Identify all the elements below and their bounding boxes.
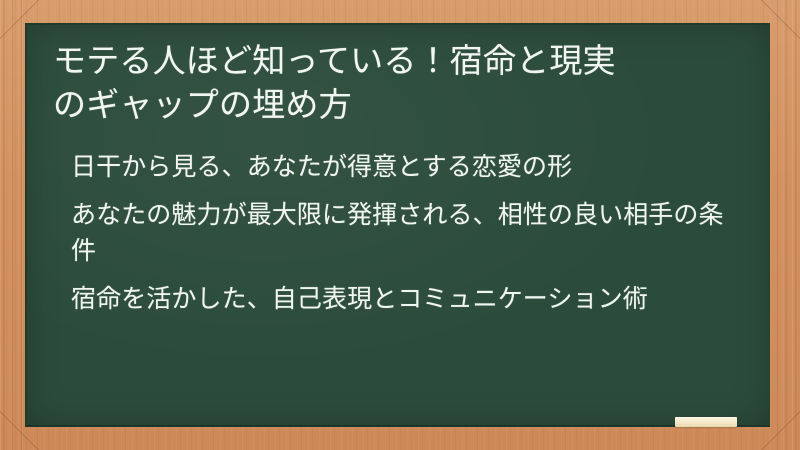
list-item: あなたの魅力が最大限に発揮される、相性の良い相手の条件 — [71, 197, 733, 268]
chalkboard-surface: モテる人ほど知っている！宿命と現実 のギャップの埋め方 日干から見る、あなたが得… — [25, 23, 770, 427]
list-item: 日干から見る、あなたが得意とする恋愛の形 — [71, 149, 733, 185]
list-item: 宿命を活かした、自己表現とコミュニケーション術 — [71, 281, 733, 317]
chalkboard-slide: モテる人ほど知っている！宿命と現実 のギャップの埋め方 日干から見る、あなたが得… — [0, 0, 800, 450]
chalk-stick — [675, 417, 737, 427]
chalkboard-content: モテる人ほど知っている！宿命と現実 のギャップの埋め方 日干から見る、あなたが得… — [27, 25, 769, 425]
frame-grain-right — [774, 0, 800, 450]
slide-title: モテる人ほど知っている！宿命と現実 のギャップの埋め方 — [49, 39, 747, 127]
frame-grain-left — [0, 0, 26, 450]
slide-topic-list: 日干から見る、あなたが得意とする恋愛の形 あなたの魅力が最大限に発揮される、相性… — [49, 149, 747, 317]
